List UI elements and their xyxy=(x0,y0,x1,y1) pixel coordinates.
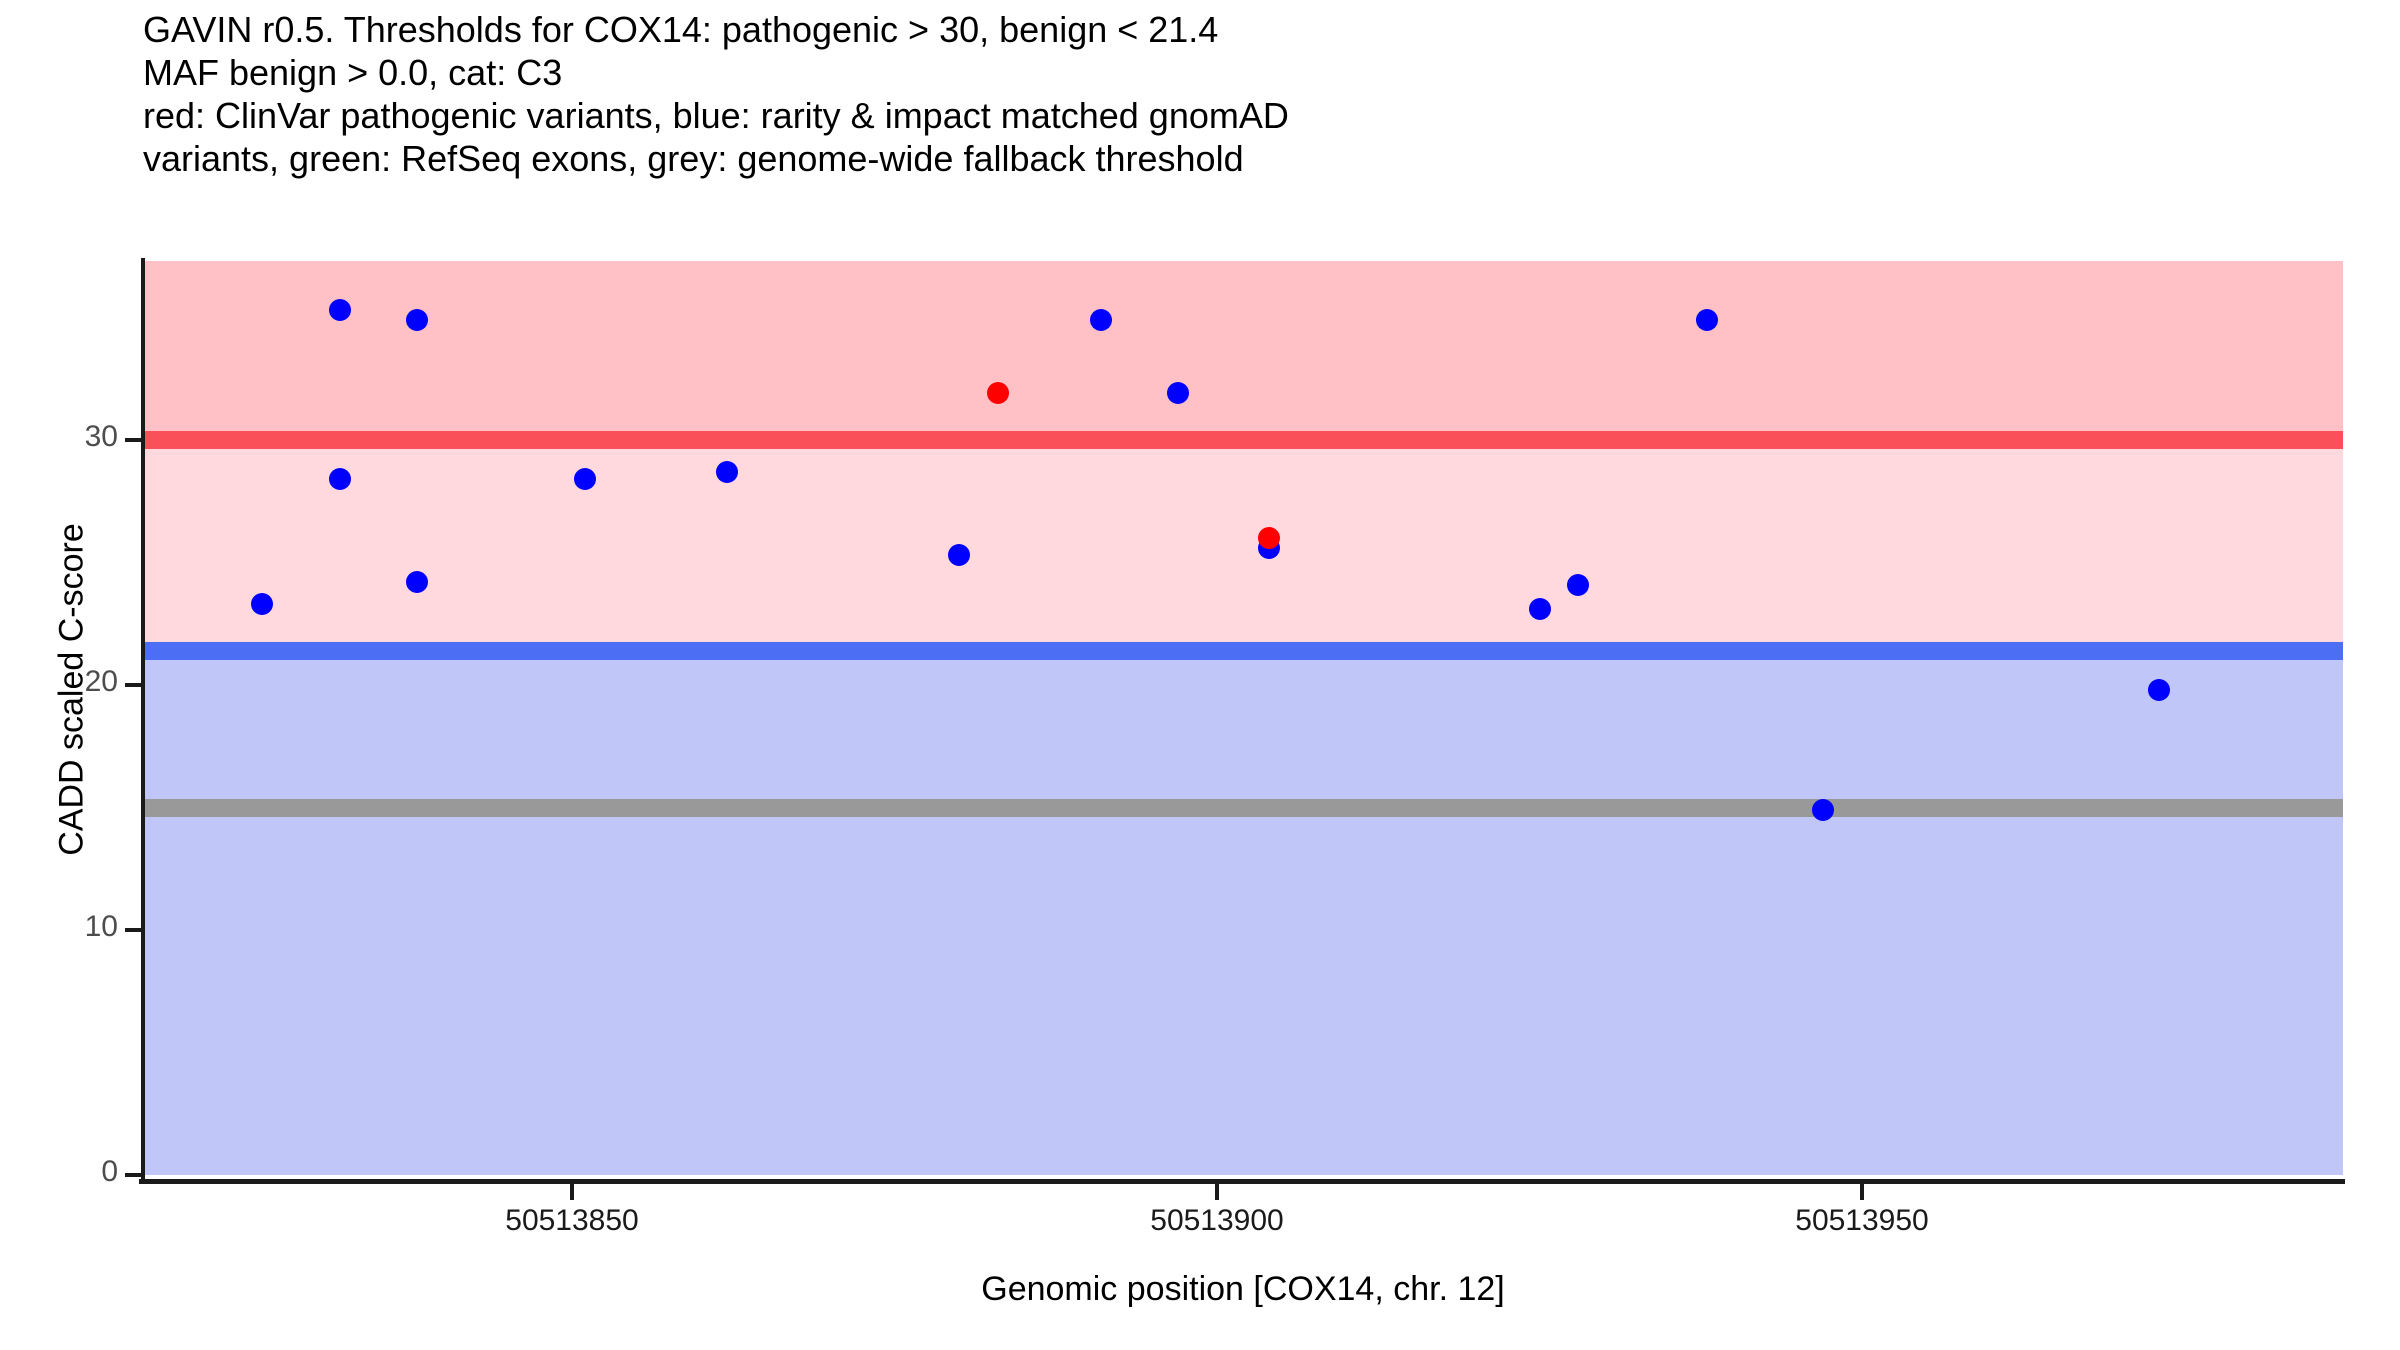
x-tick-label: 50513950 xyxy=(1795,1204,1928,1238)
y-tick-label: 0 xyxy=(0,1155,118,1189)
data-point xyxy=(1696,309,1718,331)
data-point xyxy=(987,382,1009,404)
x-tick-label: 50513850 xyxy=(505,1204,638,1238)
plot-panel xyxy=(143,263,2343,1175)
data-point xyxy=(1258,527,1280,549)
title-line-4: variants, green: RefSeq exons, grey: gen… xyxy=(143,137,2243,180)
data-point xyxy=(329,468,351,490)
y-tick-mark xyxy=(125,438,141,442)
data-point xyxy=(406,309,428,331)
data-point xyxy=(1567,574,1589,596)
x-tick-label: 50513900 xyxy=(1150,1204,1283,1238)
data-point xyxy=(329,299,351,321)
x-axis-title: Genomic position [COX14, chr. 12] xyxy=(143,1270,2343,1309)
y-tick-mark xyxy=(125,683,141,687)
data-point xyxy=(574,468,596,490)
y-axis-title: CADD scaled C-score xyxy=(53,310,92,1070)
data-point xyxy=(1090,309,1112,331)
y-axis-line xyxy=(141,258,145,1180)
data-point xyxy=(948,544,970,566)
plot-root: GAVIN r0.5. Thresholds for COX14: pathog… xyxy=(0,0,2400,1350)
data-point xyxy=(2148,679,2170,701)
data-point xyxy=(1529,598,1551,620)
y-tick-mark xyxy=(125,1173,141,1177)
x-tick-mark xyxy=(1215,1184,1219,1200)
data-point xyxy=(716,461,738,483)
title-line-2: MAF benign > 0.0, cat: C3 xyxy=(143,51,2243,94)
x-axis-line xyxy=(139,1179,2345,1184)
plot-title: GAVIN r0.5. Thresholds for COX14: pathog… xyxy=(143,8,2243,180)
x-tick-mark xyxy=(1860,1184,1864,1200)
threshold-line-genome-wide-fallback xyxy=(143,799,2343,817)
band-benign xyxy=(143,651,2343,1175)
threshold-line-benign xyxy=(143,642,2343,660)
title-line-3: red: ClinVar pathogenic variants, blue: … xyxy=(143,94,2243,137)
threshold-line-pathogenic xyxy=(143,431,2343,449)
x-tick-mark xyxy=(570,1184,574,1200)
band-pathogenic xyxy=(143,261,2343,440)
band-ambiguous xyxy=(143,440,2343,651)
title-line-1: GAVIN r0.5. Thresholds for COX14: pathog… xyxy=(143,8,2243,51)
y-tick-mark xyxy=(125,928,141,932)
